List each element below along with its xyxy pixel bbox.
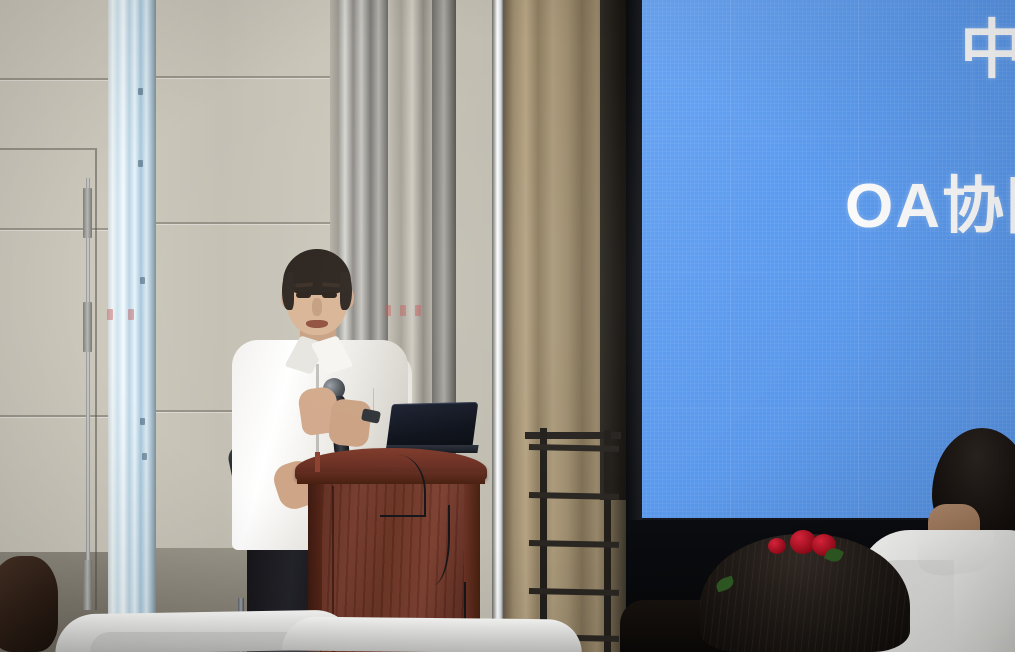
speaker-eye (322, 292, 337, 298)
flower-hair-accessory (768, 538, 786, 554)
pillar-mark (142, 453, 147, 460)
conference-photo: 中 OA协同 (0, 0, 1015, 652)
door-hinge (83, 188, 92, 238)
speaker-hair (340, 272, 352, 310)
light-strip (492, 0, 504, 652)
red-reflection (400, 305, 406, 316)
pillar-mark (140, 418, 145, 425)
speaker-nose (312, 298, 322, 316)
speaker-eye (296, 292, 311, 298)
door-hinge (83, 560, 92, 610)
door-handle[interactable] (86, 178, 90, 598)
audience-left-hair (0, 556, 58, 652)
wall-seam (155, 76, 330, 78)
pillar-mark (138, 160, 143, 167)
foreground-chair (282, 616, 582, 652)
speaker-hair (282, 272, 294, 310)
red-reflection (128, 309, 134, 320)
wall-seam (0, 78, 112, 80)
door-hinge (83, 302, 92, 352)
pillar-mark (140, 277, 145, 284)
speaker-hand-right (328, 398, 373, 448)
red-reflection (107, 309, 113, 320)
speaker-mouth (306, 320, 328, 328)
red-reflection (385, 305, 391, 316)
screen-bezel (626, 0, 642, 530)
pillar-mark (138, 88, 143, 95)
red-reflection (415, 305, 421, 316)
wall-seam (155, 222, 330, 224)
reflective-pillar (108, 0, 156, 652)
